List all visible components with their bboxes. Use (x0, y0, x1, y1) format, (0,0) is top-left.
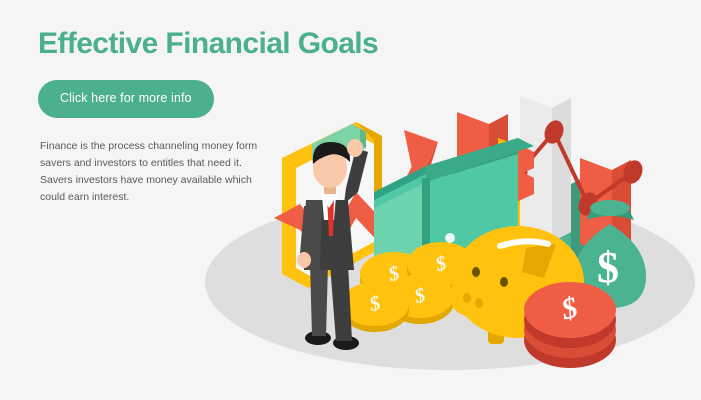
financial-goals-banner: Effective Financial Goals Click here for… (0, 0, 701, 400)
red-coins: $ (524, 282, 616, 368)
body-paragraph: Finance is the process channeling money … (40, 138, 272, 206)
content-column: Effective Financial Goals Click here for… (38, 28, 328, 206)
svg-text:$: $ (597, 243, 619, 292)
more-info-button[interactable]: Click here for more info (38, 80, 214, 118)
page-title: Effective Financial Goals (38, 28, 328, 60)
